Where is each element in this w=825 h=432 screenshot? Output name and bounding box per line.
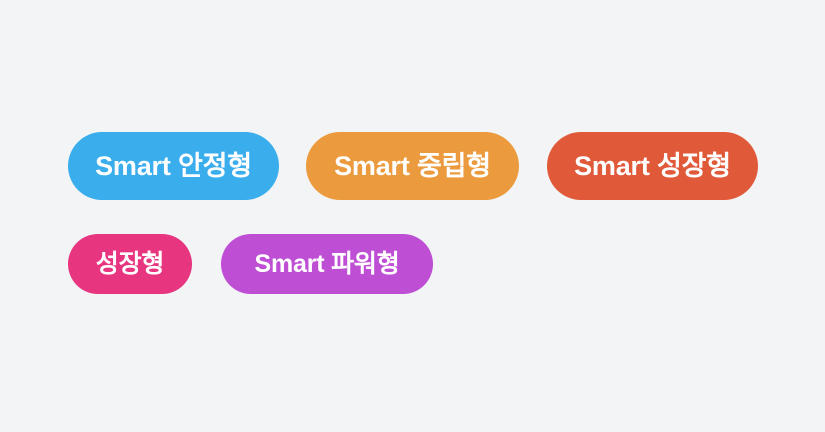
tag-smart-power-label: Smart 파워형	[254, 234, 399, 294]
tag-smart-neutral[interactable]: Smart 중립형	[306, 132, 519, 200]
tag-growth-label: 성장형	[96, 234, 164, 294]
tag-smart-growth[interactable]: Smart 성장형	[547, 132, 758, 200]
tag-smart-neutral-label: Smart 중립형	[334, 132, 491, 200]
tag-growth[interactable]: 성장형	[68, 234, 192, 294]
tag-smart-power[interactable]: Smart 파워형	[221, 234, 433, 294]
tag-gallery: Smart 안정형 Smart 중립형 Smart 성장형 성장형 Smart …	[0, 0, 825, 432]
tag-smart-stable-label: Smart 안정형	[95, 132, 252, 200]
tag-smart-growth-label: Smart 성장형	[574, 132, 731, 200]
tag-smart-stable[interactable]: Smart 안정형	[68, 132, 279, 200]
